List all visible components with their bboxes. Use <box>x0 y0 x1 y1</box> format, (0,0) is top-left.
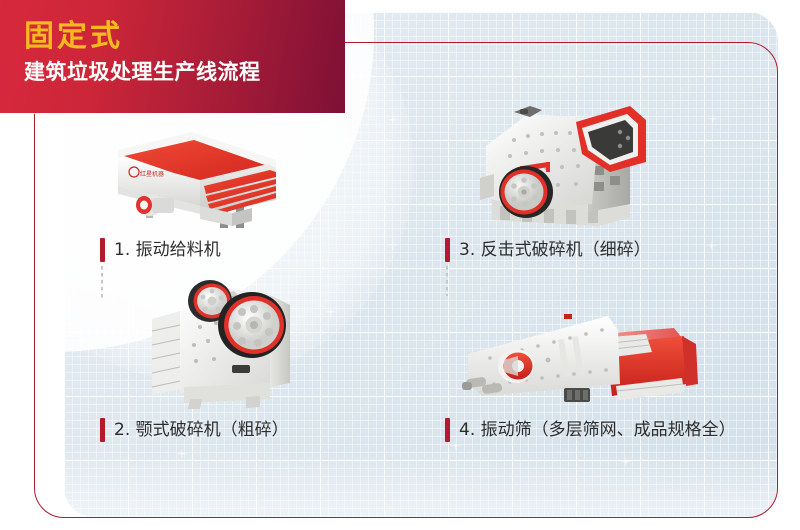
item-1-label: 1. 振动给料机 <box>100 238 221 262</box>
item-3-dotted-connector <box>446 266 448 296</box>
impact-crusher-icon <box>470 100 660 235</box>
svg-text:红星机器: 红星机器 <box>140 170 164 178</box>
item-2-label: 2. 颚式破碎机（粗碎） <box>100 418 289 442</box>
item-1-label-text: 1. 振动给料机 <box>114 242 221 259</box>
vibrating-feeder-image: 红星机器 <box>100 120 300 230</box>
vibrating-screen-image <box>460 300 710 412</box>
item-4-label: 4. 振动筛（多层筛网、成品规格全） <box>445 418 736 442</box>
jaw-crusher-icon <box>150 275 330 410</box>
label-marker-bar <box>445 418 450 442</box>
item-4-label-text: 4. 振动筛（多层筛网、成品规格全） <box>459 422 736 439</box>
label-marker-bar <box>445 238 450 262</box>
bottom-fade <box>64 447 778 517</box>
label-marker-bar <box>100 418 105 442</box>
label-marker-bar <box>100 238 105 262</box>
item-3-label: 3. 反击式破碎机（细碎） <box>445 238 651 262</box>
banner-subtitle: 建筑垃圾处理生产线流程 <box>24 62 261 83</box>
vibrating-screen-icon <box>460 300 710 412</box>
impact-crusher-image <box>470 100 660 235</box>
item-3-label-text: 3. 反击式破碎机（细碎） <box>459 242 651 259</box>
item-1-dotted-connector <box>101 266 103 300</box>
item-2-label-text: 2. 颚式破碎机（粗碎） <box>114 422 289 439</box>
vibrating-feeder-icon: 红星机器 <box>100 120 300 230</box>
header-banner: 固定式 建筑垃圾处理生产线流程 <box>0 0 345 113</box>
poster-canvas: 固定式 建筑垃圾处理生产线流程 <box>0 0 800 530</box>
banner-title: 固定式 <box>24 22 123 52</box>
jaw-crusher-image <box>150 275 330 410</box>
